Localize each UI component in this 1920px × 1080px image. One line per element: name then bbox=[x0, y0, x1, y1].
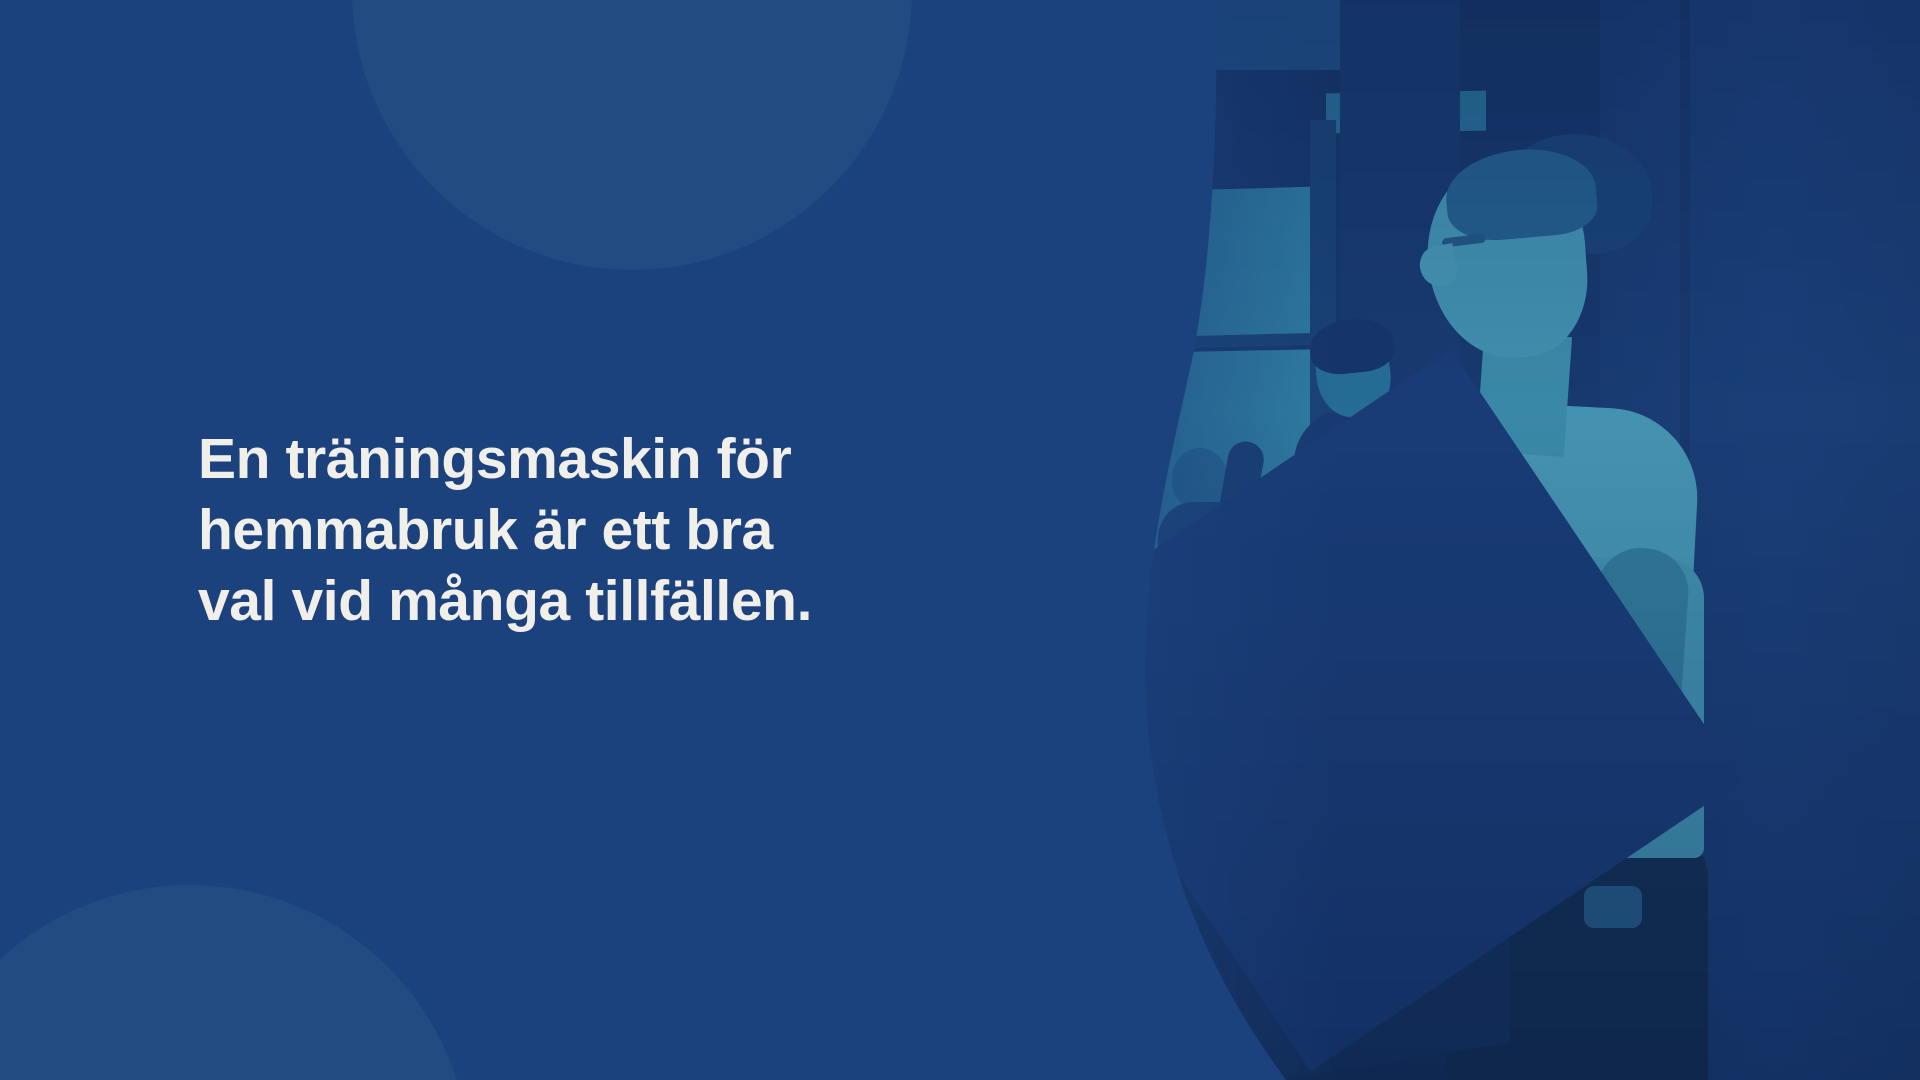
headline-line-2: hemmabruk är ett bra bbox=[198, 495, 958, 566]
decorative-circle-bottom-left bbox=[0, 885, 470, 1080]
headline: En träningsmaskin för hemmabruk är ett b… bbox=[198, 424, 958, 637]
headline-line-1: En träningsmaskin för bbox=[198, 424, 958, 495]
headline-line-3: val vid många tillfällen. bbox=[198, 566, 958, 637]
decorative-circle-top bbox=[352, 0, 912, 270]
slide-canvas: En träningsmaskin för hemmabruk är ett b… bbox=[0, 0, 1920, 1080]
